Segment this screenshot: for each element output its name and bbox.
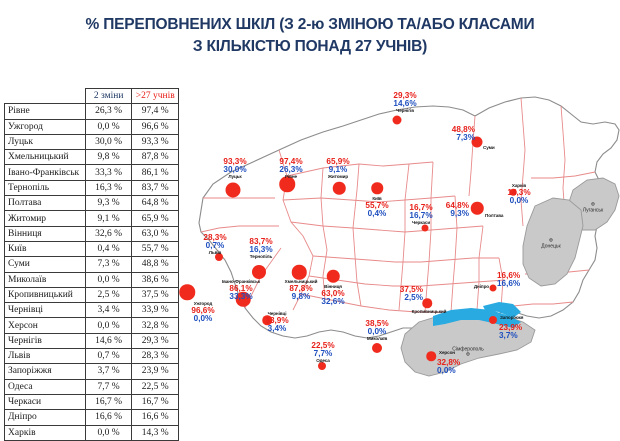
cell-shift2: 7,3 %: [85, 257, 132, 272]
table-header-row: 2 зміни >27 учнів: [5, 89, 179, 104]
value-shift2: 0,4%: [365, 210, 388, 218]
city-name: Кропивницький: [412, 310, 447, 315]
cell-city: Одеса: [5, 379, 86, 394]
city-name: Миколаїв: [365, 337, 388, 342]
cell-city: Київ: [5, 241, 86, 256]
cell-over27: 16,7 %: [132, 394, 179, 409]
cell-shift2: 32,6 %: [85, 226, 132, 241]
dot-uzhhorod[interactable]: [179, 284, 195, 300]
table-row: Чернівці3,4 %33,9 %: [5, 303, 179, 318]
cell-over27: 38,6 %: [132, 272, 179, 287]
city-name: Тернопіль: [249, 255, 272, 260]
label-rivne: 97,4% 26,3% Рівне: [279, 158, 302, 179]
table-row: Одеса7,7 %22,5 %: [5, 379, 179, 394]
cell-over27: 96,6 %: [132, 119, 179, 134]
occupied-city-name: Донецьк: [541, 244, 560, 250]
label-dnipro: 16,6% 16,6%: [497, 272, 520, 289]
cell-over27: 87,8 %: [132, 150, 179, 165]
label-zaporizhzhia-name: Запоріжжя: [500, 316, 523, 321]
dot-mykolaiv[interactable]: [372, 343, 382, 353]
label-luhansk: ⊕ Луганськ: [583, 203, 603, 214]
dot-lutsk[interactable]: [226, 183, 241, 198]
label-zhytomyr: 65,9% 9,1% Житомир: [326, 158, 349, 179]
cell-city: Миколаїв: [5, 272, 86, 287]
cell-city: Запоріжжя: [5, 364, 86, 379]
table-row: Харків0,0 %14,3 %: [5, 425, 179, 440]
value-shift2: 32,6%: [321, 298, 344, 306]
cell-city: Рівне: [5, 104, 86, 119]
cell-shift2: 3,7 %: [85, 364, 132, 379]
value-shift2: 9,8%: [285, 293, 318, 301]
column-header-over27: >27 учнів: [132, 89, 179, 104]
label-odesa: 22,5% 7,7% Одеса: [311, 342, 334, 363]
table-row: Тернопіль16,3 %83,7 %: [5, 180, 179, 195]
cell-shift2: 3,4 %: [85, 303, 132, 318]
cell-over27: 63,0 %: [132, 226, 179, 241]
value-shift2: 16,6%: [497, 280, 520, 288]
label-cherkasy: 16,7% 16,7% Черкаси: [409, 204, 432, 225]
cell-over27: 83,7 %: [132, 180, 179, 195]
cell-over27: 55,7 %: [132, 241, 179, 256]
cell-shift2: 16,3 %: [85, 180, 132, 195]
table-row: Луцьк30,0 %93,3 %: [5, 134, 179, 149]
cell-over27: 32,8 %: [132, 318, 179, 333]
value-shift2: 3,7%: [499, 332, 522, 340]
table-row: Львів0,7 %28,3 %: [5, 349, 179, 364]
value-shift2: 33,3%: [222, 293, 260, 301]
cell-shift2: 30,0 %: [85, 134, 132, 149]
label-uzhhorod: Ужгород 96,6% 0,0%: [191, 302, 214, 323]
cell-over27: 22,5 %: [132, 379, 179, 394]
label-sumy-name: Суми: [483, 146, 495, 151]
label-lutsk: 93,3% 30,0% Луцьк: [223, 158, 246, 179]
table-row: Суми7,3 %48,8 %: [5, 257, 179, 272]
cell-shift2: 9,3 %: [85, 196, 132, 211]
table-header: 2 зміни >27 учнів: [5, 89, 179, 104]
label-kyiv: Київ 55,7% 0,4%: [365, 197, 388, 218]
label-dnipro-name: Дніпро: [474, 285, 489, 290]
label-chernivtsi: Чернівці 33,9% 3,4%: [265, 312, 288, 333]
page-title: % ПЕРЕПОВНЕНИХ ШКІЛ (З 2-ю ЗМІНОЮ ТА/АБО…: [0, 14, 620, 59]
cell-city: Львів: [5, 349, 86, 364]
cell-city: Івано-Франківськ: [5, 165, 86, 180]
city-name: Полтава: [485, 214, 503, 219]
value-shift2: 2,5%: [400, 294, 423, 302]
dot-kyiv[interactable]: [371, 182, 383, 194]
value-shift2: 0,0%: [191, 315, 214, 323]
cell-city: Дніпро: [5, 410, 86, 425]
cell-shift2: 0,4 %: [85, 241, 132, 256]
table-row: Київ0,4 %55,7 %: [5, 241, 179, 256]
cell-shift2: 9,1 %: [85, 211, 132, 226]
cell-over27: 14,3 %: [132, 425, 179, 440]
label-ternopil: 83,7% 16,3% Тернопіль: [249, 238, 272, 259]
cell-over27: 23,9 %: [132, 364, 179, 379]
column-header-city: [5, 89, 86, 104]
cell-city: Чернівці: [5, 303, 86, 318]
label-simferopol: Сімферополь ⊕: [452, 347, 484, 358]
city-name: Житомир: [326, 175, 349, 180]
label-chernihiv: 29,3% 14,6% Чернігів: [393, 92, 416, 113]
cell-shift2: 26,3 %: [85, 104, 132, 119]
column-header-shift2: 2 зміни: [85, 89, 132, 104]
cell-city: Ужгород: [5, 119, 86, 134]
cell-over27: 93,3 %: [132, 134, 179, 149]
dot-zhytomyr[interactable]: [333, 182, 346, 195]
cell-shift2: 0,0 %: [85, 272, 132, 287]
label-vinnytsia: Вінниця 63,0% 32,6%: [321, 285, 344, 306]
dot-kherson[interactable]: [426, 351, 436, 361]
cell-city: Полтава: [5, 196, 86, 211]
table-row: Житомир9,1 %65,9 %: [5, 211, 179, 226]
city-name: Луцьк: [223, 175, 246, 180]
dot-chernihiv[interactable]: [393, 116, 402, 125]
label-ivano-frankivsk: Івано-Франківськ 86,1% 33,3%: [222, 280, 260, 301]
cell-over27: 16,6 %: [132, 410, 179, 425]
label-zaporizhzhia: 23,9% 3,7%: [499, 324, 522, 341]
cell-city: Вінниця: [5, 226, 86, 241]
cell-over27: 37,5 %: [132, 287, 179, 302]
cell-over27: 86,1 %: [132, 165, 179, 180]
city-name: Рівне: [279, 175, 302, 180]
table-row: Чернігів14,6 %29,3 %: [5, 333, 179, 348]
cell-shift2: 33,3 %: [85, 165, 132, 180]
title-line-1: % ПЕРЕПОВНЕНИХ ШКІЛ (З 2-ю ЗМІНОЮ ТА/АБО…: [0, 14, 620, 36]
table-row: Миколаїв0,0 %38,6 %: [5, 272, 179, 287]
table-row: Черкаси16,7 %16,7 %: [5, 394, 179, 409]
city-name: Чернігів: [393, 109, 416, 114]
cell-city: Житомир: [5, 211, 86, 226]
value-shift2: 0,0%: [437, 367, 460, 375]
cell-city: Чернігів: [5, 333, 86, 348]
label-mykolaiv: 38,5% 0,0% Миколаїв: [365, 320, 388, 341]
table-row: Полтава9,3 %64,8 %: [5, 196, 179, 211]
dot-zaporizhzhia[interactable]: [489, 316, 497, 324]
city-name: Черкаси: [409, 221, 432, 226]
city-name: Львів: [203, 251, 226, 256]
city-name: Запоріжжя: [500, 316, 523, 321]
cell-over27: 97,4 %: [132, 104, 179, 119]
cell-shift2: 0,0 %: [85, 425, 132, 440]
cell-over27: 64,8 %: [132, 196, 179, 211]
ukraine-map: 93,3% 30,0% Луцьк 97,4% 26,3% Рівне 28,3…: [183, 80, 620, 431]
city-name: Одеса: [311, 359, 334, 364]
cell-city: Суми: [5, 257, 86, 272]
label-kherson: 32,8% 0,0%: [437, 359, 460, 376]
table-row: Ужгород0,0 %96,6 %: [5, 119, 179, 134]
cell-over27: 28,3 %: [132, 349, 179, 364]
cell-city: Харків: [5, 425, 86, 440]
table-row: Херсон0,0 %32,8 %: [5, 318, 179, 333]
label-lviv: 28,3% 0,7% Львів: [203, 234, 226, 255]
label-kropyvnytskyi-name: Кропивницький: [412, 310, 447, 315]
label-donetsk: ⊕ Донецьк: [541, 239, 560, 250]
cell-city: Черкаси: [5, 394, 86, 409]
table-row: Запоріжжя3,7 %23,9 %: [5, 364, 179, 379]
table-row: Дніпро16,6 %16,6 %: [5, 410, 179, 425]
cell-over27: 33,9 %: [132, 303, 179, 318]
table-row: Івано-Франківськ33,3 %86,1 %: [5, 165, 179, 180]
cell-city: Тернопіль: [5, 180, 86, 195]
city-pin-icon: ⊕: [452, 353, 484, 358]
cell-shift2: 0,0 %: [85, 119, 132, 134]
cell-shift2: 0,0 %: [85, 318, 132, 333]
cell-shift2: 2,5 %: [85, 287, 132, 302]
cell-shift2: 0,7 %: [85, 349, 132, 364]
cell-shift2: 14,6 %: [85, 333, 132, 348]
dot-kropyvnytskyi[interactable]: [422, 298, 432, 308]
value-shift2: 3,4%: [265, 325, 288, 333]
table-body: Рівне26,3 %97,4 %Ужгород0,0 %96,6 %Луцьк…: [5, 104, 179, 441]
statistics-table: 2 зміни >27 учнів Рівне26,3 %97,4 %Ужгор…: [4, 88, 179, 441]
label-kharkiv: Харків 14,3% 0,0%: [507, 184, 530, 205]
cell-city: Херсон: [5, 318, 86, 333]
cell-city: Хмельницький: [5, 150, 86, 165]
cell-over27: 48,8 %: [132, 257, 179, 272]
cell-over27: 65,9 %: [132, 211, 179, 226]
occupied-city-name: Луганськ: [583, 208, 603, 214]
label-kropyvnytskyi: 37,5% 2,5%: [400, 286, 423, 303]
dot-dnipro[interactable]: [490, 285, 497, 292]
table-row: Хмельницький9,8 %87,8 %: [5, 150, 179, 165]
city-name: Суми: [483, 146, 495, 151]
dot-vinnytsia[interactable]: [327, 270, 340, 283]
table-row: Рівне26,3 %97,4 %: [5, 104, 179, 119]
table-row: Вінниця32,6 %63,0 %: [5, 226, 179, 241]
dot-khmelnytskyi[interactable]: [292, 265, 307, 280]
cell-city: Кропивницький: [5, 287, 86, 302]
table-row: Кропивницький2,5 %37,5 %: [5, 287, 179, 302]
value-shift2: 0,0%: [507, 197, 530, 205]
label-poltava: 64,8% 9,3%: [446, 202, 469, 219]
statistics-table-container: 2 зміни >27 учнів Рівне26,3 %97,4 %Ужгор…: [4, 88, 179, 441]
cell-shift2: 9,8 %: [85, 150, 132, 165]
value-shift2: 7,3%: [452, 134, 475, 142]
city-name: Дніпро: [474, 285, 489, 290]
label-sumy: 48,8% 7,3%: [452, 126, 475, 143]
cell-shift2: 16,6 %: [85, 410, 132, 425]
cell-over27: 29,3 %: [132, 333, 179, 348]
label-poltava-name: Полтава: [485, 214, 503, 219]
dot-cherkasy[interactable]: [422, 225, 429, 232]
cell-city: Луцьк: [5, 134, 86, 149]
value-shift2: 9,3%: [446, 210, 469, 218]
dot-ternopil[interactable]: [252, 265, 266, 279]
dot-poltava[interactable]: [471, 202, 484, 215]
cell-shift2: 7,7 %: [85, 379, 132, 394]
title-line-2: З КІЛЬКІСТЮ ПОНАД 27 УЧНІВ): [0, 36, 620, 58]
label-khmelnytskyi: Хмельницький 87,8% 9,8%: [285, 280, 318, 301]
cell-shift2: 16,7 %: [85, 394, 132, 409]
